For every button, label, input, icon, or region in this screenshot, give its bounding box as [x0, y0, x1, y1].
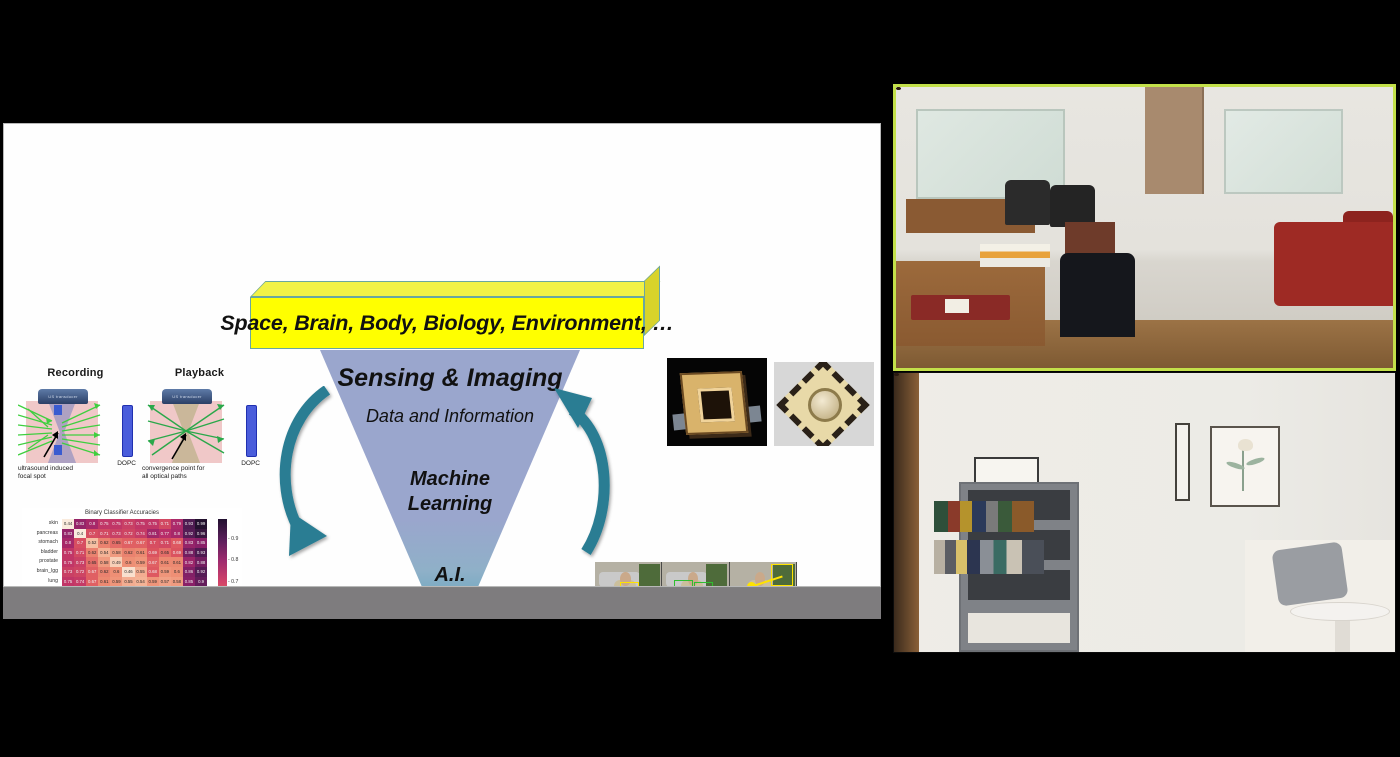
- funnel-line-machine: Machine: [320, 467, 580, 492]
- heatmap-cell: 0.8: [62, 538, 74, 548]
- optics-caption-line2: all optical paths: [142, 473, 257, 481]
- optics-panel-title: Recording: [18, 367, 133, 379]
- side-table-top: [1290, 602, 1390, 622]
- print-leaf-right: [1246, 456, 1265, 467]
- banner-text: Space, Brain, Body, Biology, Environment…: [220, 311, 673, 336]
- optics-panel-recording: Recording US transducer: [18, 367, 133, 481]
- light-beams: [142, 397, 257, 463]
- heatmap-cell: 0.68: [171, 538, 183, 548]
- down-arrow-glyph-top: [54, 405, 62, 415]
- heatmap-cell: 0.61: [159, 557, 171, 567]
- heatmap-cell: 0.49: [110, 557, 122, 567]
- funnel-diagram: Sensing & Imaging Data and Information M…: [320, 350, 580, 587]
- heatmap-row-label: thyroid: [22, 586, 60, 587]
- books-upper-shelf: [934, 501, 1034, 532]
- heatmap-cell: 0.46: [122, 567, 134, 577]
- heatmap-cell: 0.8: [86, 519, 98, 529]
- heatmap-cell: 0.44: [62, 519, 74, 529]
- heatmap-cell: 0.59: [159, 567, 171, 577]
- shelf-row: [968, 570, 1070, 600]
- heatmap-cell: 0.59: [135, 557, 147, 567]
- eye-right: [896, 87, 901, 90]
- heatmap-cell: 0.83: [62, 529, 74, 539]
- pedestrian-detection-figure: [595, 562, 797, 587]
- heatmap-cell: 0.71: [159, 538, 171, 548]
- book-stack: [980, 244, 1050, 266]
- print-flower: [1238, 439, 1253, 451]
- heatmap-cell: 0.65: [171, 586, 183, 587]
- heatmap-cell: 0.71: [98, 529, 110, 539]
- heatmap-cell: 0.62: [98, 538, 110, 548]
- heatmap-cell: 0.73: [62, 567, 74, 577]
- heatmap-cell: 0.88: [183, 548, 195, 558]
- chip-fluid-well: [808, 388, 842, 422]
- heatmap-cell: 0.71: [159, 519, 171, 529]
- heatmap-cell: 0.7: [86, 529, 98, 539]
- heatmap-title: Binary Classifier Accuracies: [22, 510, 222, 516]
- heatmap-cell: 0.9: [195, 577, 207, 587]
- heatmap-cell: 0.93: [183, 519, 195, 529]
- heatmap-cell: 0.82: [183, 557, 195, 567]
- heatmap-cell: 0.86: [183, 567, 195, 577]
- heatmap-cell: 0.96: [195, 529, 207, 539]
- optics-caption: convergence point for all optical paths: [142, 465, 257, 481]
- heatmap-cell: 0.58: [98, 557, 110, 567]
- heatmap-cell: 0.62: [98, 567, 110, 577]
- optics-panel-title: Playback: [142, 367, 257, 379]
- botanical-print: [1210, 426, 1280, 507]
- heatmap-row-label: prostate: [22, 557, 60, 567]
- red-sofa: [1274, 222, 1393, 306]
- heatmap-cell: 0.61: [135, 548, 147, 558]
- funnel-line-machine-learning: Machine Learning: [320, 467, 580, 517]
- print-stem: [1242, 450, 1244, 492]
- heatmap-cell: 0.67: [122, 538, 134, 548]
- heatmap-cell: 0.67: [110, 586, 122, 587]
- heatmap-cell: 0.7: [86, 586, 98, 587]
- funnel-line-ai: A.I.: [320, 564, 580, 587]
- framed-certificate: [974, 457, 1039, 485]
- books-lower-shelf: [934, 540, 1044, 573]
- banner-front-face: Space, Brain, Body, Biology, Environment…: [250, 297, 644, 349]
- heatmap-cell: 0.61: [98, 577, 110, 587]
- heatmap-cell: 0.67: [135, 538, 147, 548]
- heatmap-cell: 0.86: [183, 586, 195, 587]
- black-chair-back: [1060, 253, 1135, 337]
- pedestrian-panel-yellow: [595, 562, 662, 587]
- chip-die: [697, 387, 735, 422]
- heatmap-grid: 0.440.830.80.750.750.730.750.750.710.790…: [62, 519, 207, 587]
- heatmap-row-label: brain_lgg: [22, 567, 60, 577]
- heatmap-cell: 0.75: [98, 519, 110, 529]
- meeting-stage: Space, Brain, Body, Biology, Environment…: [0, 0, 1400, 757]
- colorbar-tick-label: - 0.7: [228, 579, 238, 585]
- heatmap-cell: 0.68: [122, 586, 134, 587]
- heatmap-cell: 0.75: [135, 519, 147, 529]
- office-door: [1145, 87, 1205, 194]
- heatmap-cell: 0.58: [110, 548, 122, 558]
- foliage: [639, 564, 660, 587]
- heatmap-cell: 0.75: [62, 548, 74, 558]
- participant-video-bottom: [894, 373, 1395, 652]
- detection-box: [674, 580, 693, 587]
- heatmap-cell: 0.67: [86, 577, 98, 587]
- heatmap-cell: 0.83: [74, 519, 86, 529]
- door-frame: [894, 373, 919, 652]
- dopc-device: [122, 405, 133, 457]
- heatmap-cell: 0.61: [171, 557, 183, 567]
- funnel-line-sensing-imaging: Sensing & Imaging: [320, 364, 580, 393]
- heatmap-cell: 0.75: [62, 577, 74, 587]
- red-binder: [911, 295, 1010, 320]
- heatmap-cell: 0.71: [74, 548, 86, 558]
- participant-tile-bottom[interactable]: [893, 372, 1396, 653]
- heatmap-cell: 0.6: [110, 567, 122, 577]
- heatmap-cell: 0.59: [135, 586, 147, 587]
- heatmap-cell: 0.92: [183, 529, 195, 539]
- heatmap-cell: 0.99: [195, 519, 207, 529]
- eye-right: [894, 373, 899, 376]
- presentation-slide[interactable]: Space, Brain, Body, Biology, Environment…: [3, 123, 881, 587]
- heatmap-cell: 0.7: [147, 538, 159, 548]
- heatmap-cell: 0.75: [110, 519, 122, 529]
- screen-share-region[interactable]: Space, Brain, Body, Biology, Environment…: [3, 123, 881, 619]
- heatmap-cell: 0.62: [122, 548, 134, 558]
- heatmap-cell: 0.55: [135, 567, 147, 577]
- packaged-sensor-chip-photo: [667, 358, 767, 446]
- heatmap-cell: 0.54: [135, 577, 147, 587]
- heatmap-row-label: bladder: [22, 548, 60, 558]
- heatmap-cell: 0.8: [171, 529, 183, 539]
- heatmap-cell: 0.85: [195, 538, 207, 548]
- heatmap-cell: 0.93: [195, 548, 207, 558]
- heatmap-cell: 0.45: [147, 586, 159, 587]
- heatmap-cell: 0.67: [147, 557, 159, 567]
- dopc-label: DOPC: [241, 460, 260, 467]
- heatmap-row-label: pancreas: [22, 529, 60, 539]
- optics-scene: US transducer: [18, 383, 133, 463]
- optics-scene: US transducer: [142, 383, 257, 463]
- heatmap-cell: 0.69: [147, 548, 159, 558]
- heatmap-cell: 0.6: [171, 567, 183, 577]
- heatmap-cell: 0.65: [86, 557, 98, 567]
- dopc-label: DOPC: [117, 460, 136, 467]
- whiteboard-right: [1224, 109, 1343, 193]
- heatmap-row-label: skin: [22, 519, 60, 529]
- gold-package-with-well-photo: [774, 362, 874, 446]
- heatmap-cell: 0.73: [74, 557, 86, 567]
- heatmap-cell: 0.4: [74, 529, 86, 539]
- colorbar-tick-label: - 0.8: [228, 557, 238, 563]
- heatmap-cell: 0.68: [147, 567, 159, 577]
- heatmap-row-label: lung: [22, 577, 60, 587]
- heatmap-cell: 0.57: [159, 577, 171, 587]
- participant-tile-top[interactable]: [893, 84, 1396, 371]
- optics-caption: ultrasound induced focal spot: [18, 465, 133, 481]
- chip-package: [680, 371, 749, 435]
- banner-top-face: [250, 281, 660, 297]
- heatmap-row-labels: skinpancreasstomachbladderprostatebrain_…: [22, 519, 60, 587]
- heatmap-cell: 0.59: [147, 577, 159, 587]
- optics-caption-line1: ultrasound induced: [18, 465, 133, 473]
- heatmap-cell: 0.88: [195, 557, 207, 567]
- heatmap-cell: 0.74: [74, 577, 86, 587]
- heatmap-cell: 0.65: [159, 548, 171, 558]
- heatmap-colorbar-ticks: - 0.9- 0.8- 0.7- 0.6- 0.5: [228, 519, 248, 587]
- funnel-line-data-information: Data and Information: [320, 406, 580, 427]
- heatmap-cell: 0.92: [195, 586, 207, 587]
- participant-video-top: [896, 87, 1393, 368]
- shelf-drawer: [968, 613, 1070, 643]
- dopc-device: [246, 405, 257, 457]
- heatmap-cell: 0.74: [135, 529, 147, 539]
- heatmap-cell: 0.59: [110, 577, 122, 587]
- optics-recording-playback-figure: Recording US transducer: [18, 367, 258, 492]
- heatmap-cell: 0.81: [74, 586, 86, 587]
- heatmap-cell: 0.52: [86, 538, 98, 548]
- heatmap-cell: 0.55: [122, 577, 134, 587]
- heatmap-cell: 0.92: [195, 567, 207, 577]
- heatmap-cell: 0.58: [159, 586, 171, 587]
- colorbar-tick-label: - 0.9: [228, 536, 238, 542]
- heatmap-cell: 0.81: [147, 529, 159, 539]
- heatmap-cell: 0.75: [147, 519, 159, 529]
- heatmap-cell: 0.83: [183, 538, 195, 548]
- heatmap-cell: 0.72: [74, 567, 86, 577]
- throw-pillow: [1271, 541, 1348, 606]
- side-table-leg: [1335, 619, 1350, 652]
- heatmap-cell: 0.72: [122, 529, 134, 539]
- left-curved-arrow-icon: [275, 386, 337, 564]
- office-chair-left: [1005, 180, 1050, 225]
- heatmap-cell: 0.65: [110, 538, 122, 548]
- heatmap-cell: 0.58: [171, 577, 183, 587]
- heatmap-cell: 0.85: [183, 577, 195, 587]
- heatmap-cell: 0.73: [110, 529, 122, 539]
- optics-caption-line1: convergence point for: [142, 465, 257, 473]
- heatmap-cell: 0.54: [98, 548, 110, 558]
- down-arrow-glyph-bottom: [54, 445, 62, 455]
- detection-box: [765, 586, 788, 587]
- heatmap-cell: 0.69: [98, 586, 110, 587]
- heatmap-colorbar: [218, 519, 227, 587]
- framed-picture-partial: [1175, 423, 1190, 501]
- detection-box: [694, 582, 713, 587]
- heatmap-cell: 0.77: [159, 529, 171, 539]
- light-beams: [18, 397, 133, 463]
- pedestrian-panel-multicolor: [730, 562, 797, 587]
- binary-classifier-accuracy-heatmap: Binary Classifier Accuracies skinpancrea…: [22, 508, 242, 587]
- right-curved-arrow-icon: [552, 382, 618, 564]
- heatmap-cell: 0.62: [86, 548, 98, 558]
- optics-panel-playback: Playback US transducer: [142, 367, 257, 481]
- heatmap-cell: 0.67: [86, 567, 98, 577]
- heatmap-cell: 0.79: [171, 519, 183, 529]
- slide-banner: Space, Brain, Body, Biology, Environment…: [250, 281, 660, 349]
- optics-caption-line2: focal spot: [18, 473, 133, 481]
- heatmap-cell: 0.73: [122, 519, 134, 529]
- heatmap-cell: 0.6: [122, 557, 134, 567]
- pedestrian-panel-green: [662, 562, 729, 587]
- heatmap-cell: 0.69: [171, 548, 183, 558]
- funnel-line-learning: Learning: [320, 492, 580, 517]
- heatmap-row-label: stomach: [22, 538, 60, 548]
- detection-box: [620, 582, 639, 587]
- heatmap-cell: 0.7: [74, 538, 86, 548]
- heatmap-cell: 0.75: [62, 557, 74, 567]
- heatmap-cell: 0.75: [62, 586, 74, 587]
- screen-share-bottom-bar: [3, 588, 881, 619]
